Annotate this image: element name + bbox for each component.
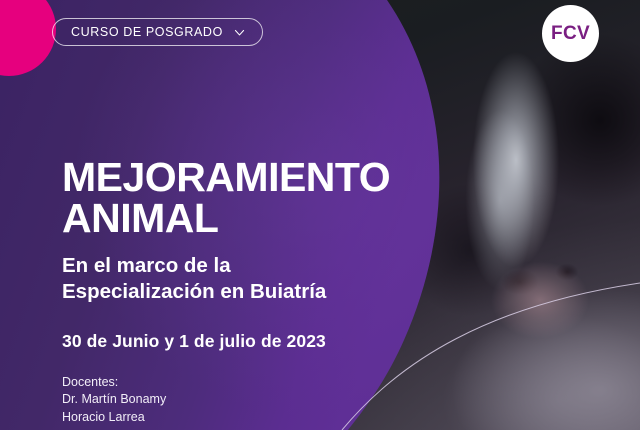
course-category-pill[interactable]: CURSO DE POSGRADO <box>52 18 263 46</box>
title-line-2: ANIMAL <box>62 198 390 239</box>
subtitle-line-2: Especialización en Buiatría <box>62 279 326 305</box>
page-title: MEJORAMIENTO ANIMAL <box>62 157 390 238</box>
chevron-down-icon <box>233 26 246 39</box>
fcv-logo-text: FCV <box>551 23 590 45</box>
subtitle: En el marco de la Especialización en Bui… <box>62 253 326 305</box>
poster-canvas: CURSO DE POSGRADO FCV MEJORAMIENTO ANIMA… <box>0 0 640 430</box>
teachers-block: Docentes: Dr. Martín Bonamy Horacio Larr… <box>62 374 166 426</box>
teacher-name-1: Dr. Martín Bonamy <box>62 391 166 408</box>
teachers-label: Docentes: <box>62 374 166 391</box>
event-dates: 30 de Junio y 1 de julio de 2023 <box>62 331 326 352</box>
subtitle-line-1: En el marco de la <box>62 253 326 279</box>
title-line-1: MEJORAMIENTO <box>62 154 390 200</box>
teacher-name-2: Horacio Larrea <box>62 409 166 426</box>
fcv-logo: FCV <box>542 5 599 62</box>
course-category-label: CURSO DE POSGRADO <box>71 25 223 39</box>
